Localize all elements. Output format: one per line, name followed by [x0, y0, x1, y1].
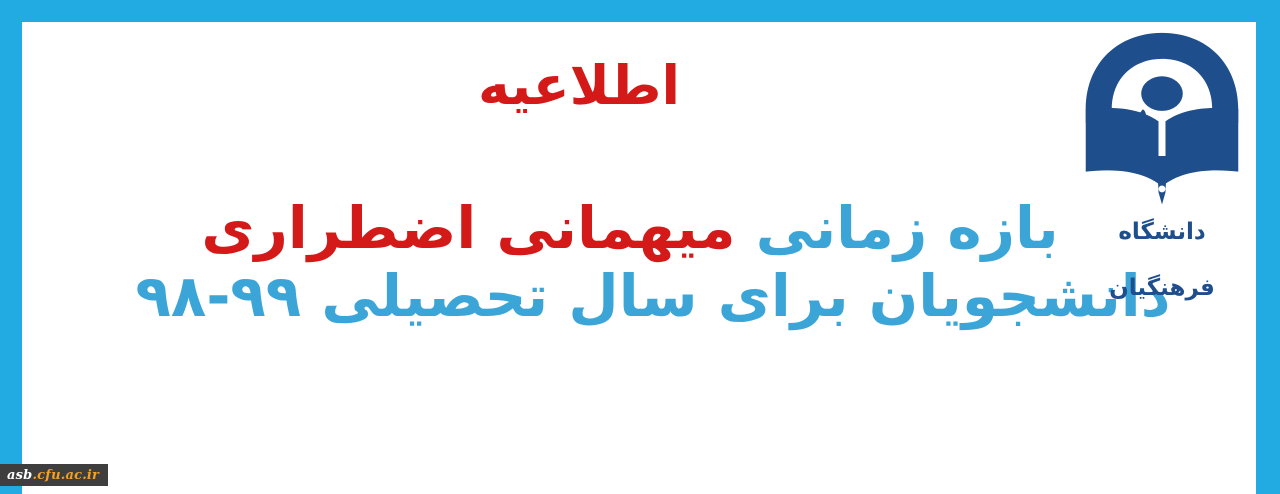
frame-border-top	[0, 0, 1280, 22]
announcement-line-2: دانشجویان برای سال تحصیلی ۹۹-۹۸	[22, 262, 1256, 330]
site-watermark: asb.cfu.ac.ir	[0, 464, 108, 486]
poster-canvas: اطلاعیه بازه زمانی میهمانی اضطراری دانشج…	[22, 22, 1256, 494]
university-wordmark: دانشگاه فرهنگیان	[1074, 204, 1250, 260]
watermark-site-name: asb	[7, 468, 32, 483]
announcement-body: بازه زمانی میهمانی اضطراری دانشجویان برا…	[22, 194, 1256, 331]
page-title: اطلاعیه	[22, 58, 1256, 115]
university-emblem-icon	[1074, 26, 1250, 208]
watermark-site-domain: .cfu.ac.ir	[32, 468, 99, 483]
headline-block: اطلاعیه	[22, 58, 1256, 115]
university-logo: دانشگاه فرهنگیان	[1074, 26, 1250, 272]
announcement-line-1: بازه زمانی میهمانی اضطراری	[22, 194, 1256, 262]
announcement-line-1-red-segment: میهمانی اضطراری	[201, 194, 735, 262]
university-wordmark-text: دانشگاه فرهنگیان	[1109, 219, 1215, 301]
announcement-poster: اطلاعیه بازه زمانی میهمانی اضطراری دانشج…	[0, 0, 1280, 494]
frame-border-right	[1256, 0, 1280, 494]
announcement-line-1-blue-segment: بازه زمانی	[756, 194, 1059, 262]
frame-border-left	[0, 0, 22, 494]
